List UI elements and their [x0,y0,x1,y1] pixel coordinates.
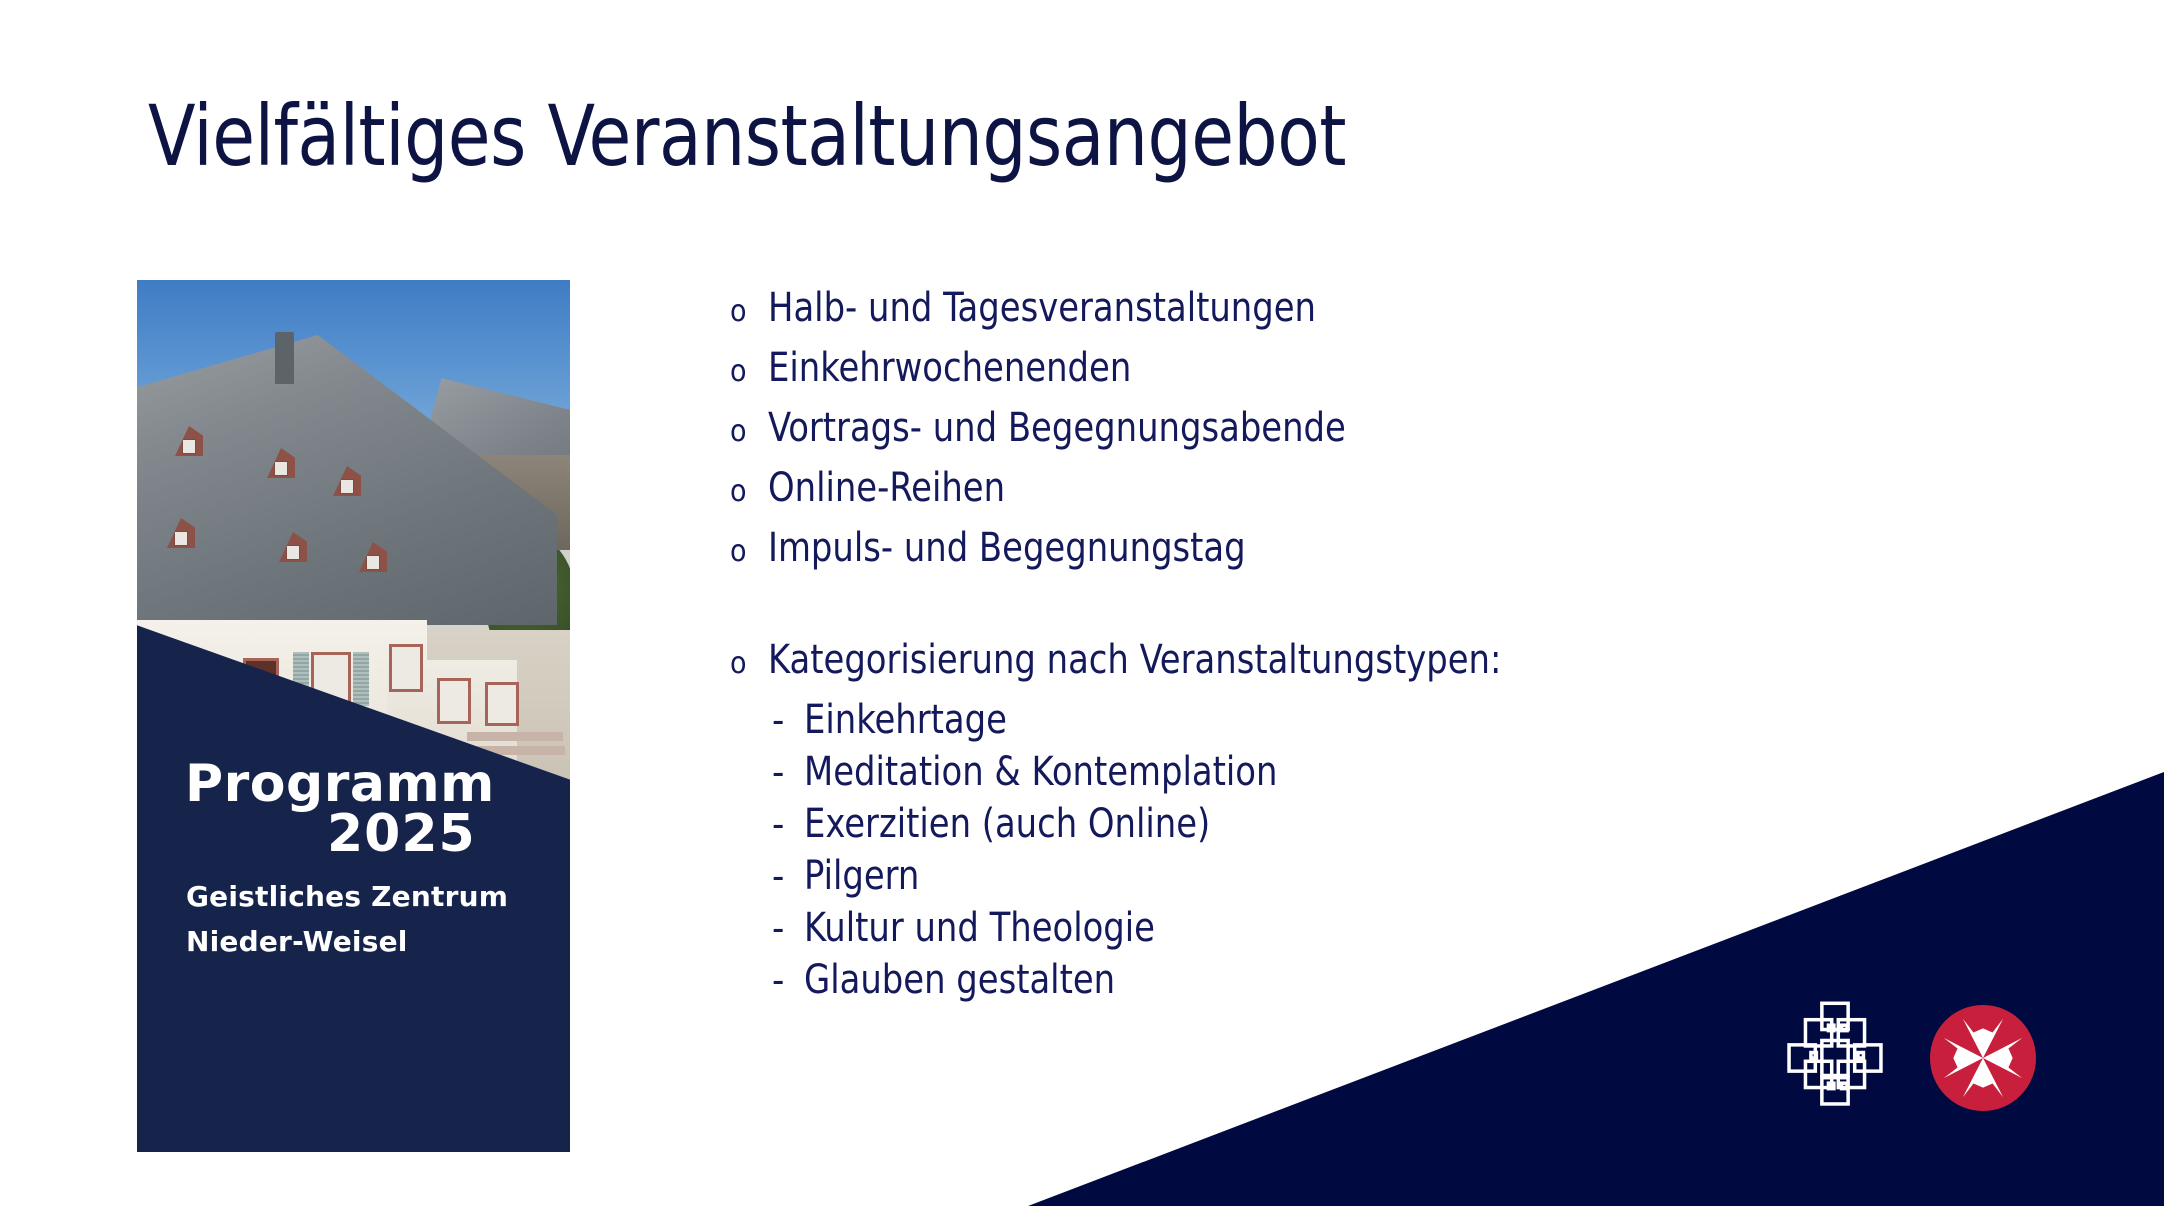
sub-list-item-label: Meditation & Kontemplation [804,752,1277,792]
bullet-marker-dash: - [772,909,804,947]
sub-list-item-label: Exerzitien (auch Online) [804,804,1210,844]
list-spacer [730,588,1880,640]
sub-list-item: - Einkehrtage [730,700,1880,752]
sub-list-item-label: Kultur und Theologie [804,908,1155,948]
brochure-organization-line-1: Geistliches Zentrum [186,880,508,913]
bullet-marker-circle: o [730,417,768,447]
list-item-label: Einkehrwochenenden [768,348,1131,388]
brochure-organization-line-2: Nieder-Weisel [186,925,408,958]
sub-list-item-label: Einkehrtage [804,700,1007,740]
bullet-marker-circle: o [730,477,768,507]
slide-canvas: Vielfältiges Veranstaltungsangebot [0,0,2164,1206]
sub-list-item: - Meditation & Kontemplation [730,752,1880,804]
list-item: o Halb- und Tagesveranstaltungen [730,288,1880,348]
bullet-marker-circle: o [730,357,768,387]
bullet-marker-dash: - [772,857,804,895]
list-item-label: Kategorisierung nach Veranstaltungstypen… [768,640,1501,680]
list-item: o Vortrags- und Begegnungsabende [730,408,1880,468]
page-title: Vielfältiges Veranstaltungsangebot [148,92,1896,181]
brochure-text-layer: Programm 2025 Geistliches Zentrum Nieder… [137,280,570,1152]
brochure-cover-image: Programm 2025 Geistliches Zentrum Nieder… [137,280,570,1152]
list-item: o Impuls- und Begegnungstag [730,528,1880,588]
bullet-marker-circle: o [730,649,768,679]
johanniter-cross-icon [1780,1000,1890,1116]
sub-list-item: - Glauben gestalten [730,960,1880,1012]
list-item: o Einkehrwochenenden [730,348,1880,408]
sub-list-item-label: Glauben gestalten [804,960,1115,1000]
list-item-label: Halb- und Tagesveranstaltungen [768,288,1316,328]
malta-cross-icon [1930,1005,2036,1111]
sub-list-item: - Kultur und Theologie [730,908,1880,960]
sub-list-item: - Pilgern [730,856,1880,908]
sub-list-item-label: Pilgern [804,856,919,896]
list-item: o Online-Reihen [730,468,1880,528]
list-item-label: Impuls- und Begegnungstag [768,528,1246,568]
list-item-label: Vortrags- und Begegnungsabende [768,408,1346,448]
bullet-marker-dash: - [772,805,804,843]
list-item-category-heading: o Kategorisierung nach Veranstaltungstyp… [730,640,1880,700]
list-item-label: Online-Reihen [768,468,1005,508]
corner-logo-group [1780,1000,2036,1116]
bullet-marker-dash: - [772,701,804,739]
bullet-marker-circle: o [730,297,768,327]
bullet-marker-circle: o [730,537,768,567]
bullet-marker-dash: - [772,961,804,999]
event-types-list: o Halb- und Tagesveranstaltungen o Einke… [730,288,1880,1012]
bullet-marker-dash: - [772,753,804,791]
brochure-year: 2025 [327,804,476,864]
sub-list-item: - Exerzitien (auch Online) [730,804,1880,856]
